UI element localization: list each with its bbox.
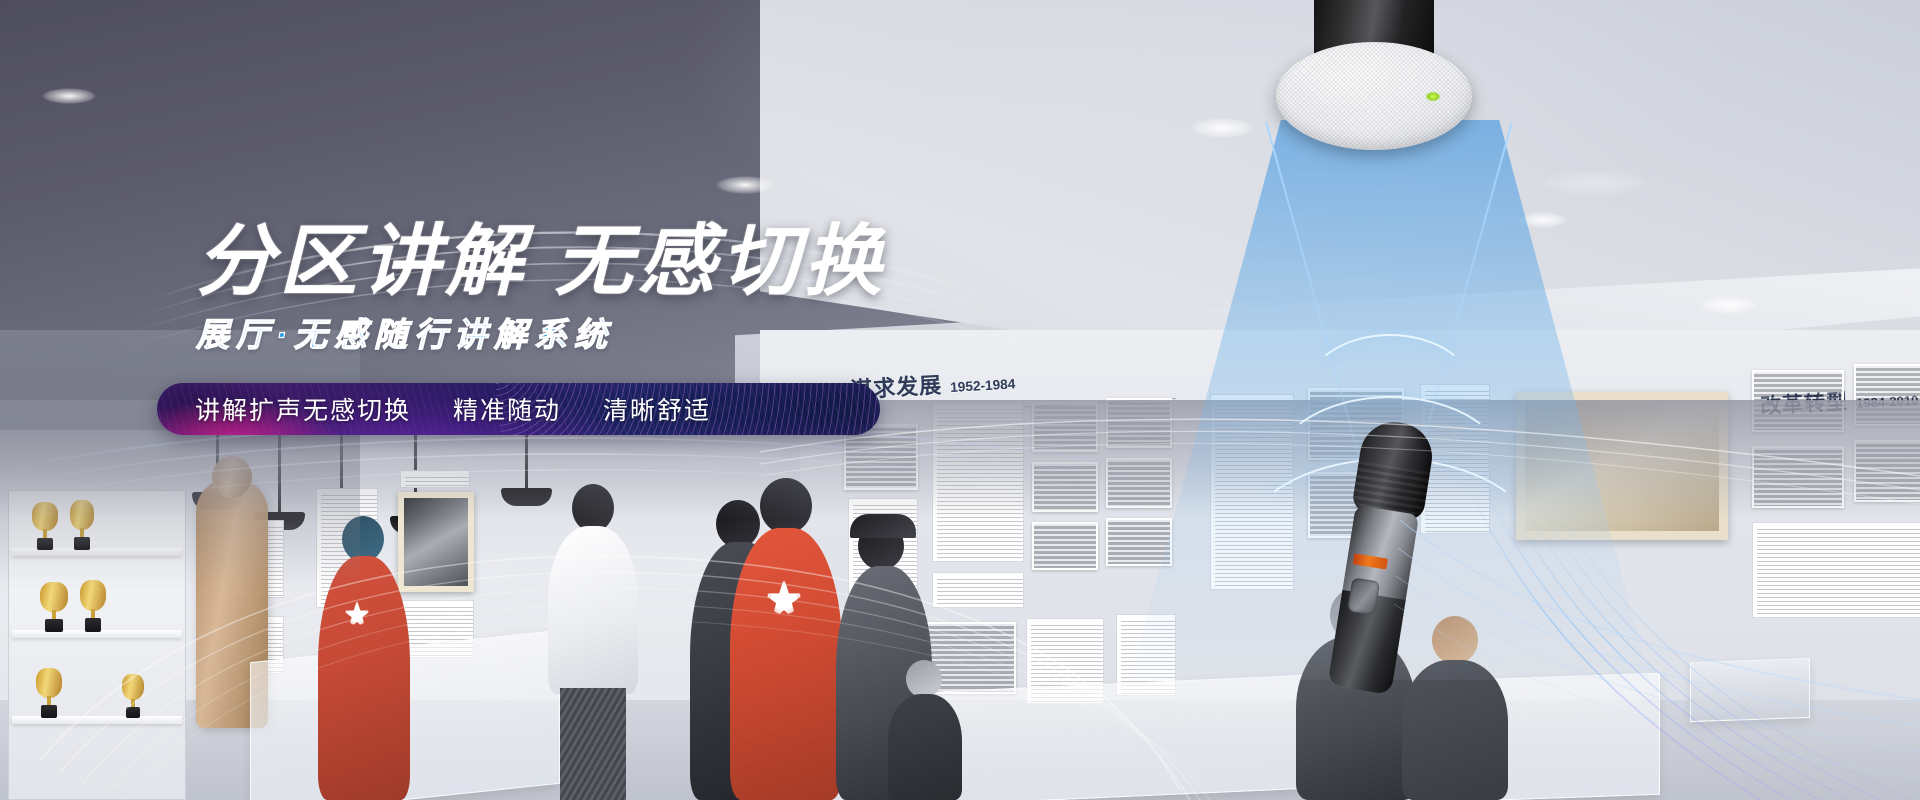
archive-photo [1854,440,1920,502]
visitor-cap [850,514,916,538]
feature-item: 讲解扩声无感切换 [195,391,411,427]
display-vitrine [1690,658,1810,722]
page-subtitle: 展厅·无感随行讲解系统 [196,308,956,356]
portrait-frame [398,492,474,592]
ceiling-light [1700,296,1758,314]
trophy [32,502,58,550]
headline-block: 分区讲解 无感切换 展厅·无感随行讲解系统 [196,222,956,356]
archive-photo [1752,446,1844,508]
pendant-lamp [278,430,281,514]
ceiling-light [42,88,96,104]
trophy [36,668,62,718]
exhibit-section-years: 1952-1984 [950,376,1016,395]
speaker-status-led [1426,92,1440,101]
visitor-body [730,528,842,800]
exhibit-panel [932,572,1024,608]
exhibit-panel [400,470,470,488]
microphone-power-button [1347,577,1380,615]
feature-item: 清晰舒适 [603,391,711,427]
archive-photo [1032,522,1098,570]
visitor-body [888,694,962,800]
ceiling-speaker [1276,0,1472,159]
promo-banner: 谋求发展1952-1984 改革转型1984-2010 [0,0,1920,800]
visitor-head [906,660,942,698]
archive-photo [1032,402,1098,452]
feature-pill: 讲解扩声无感切换 精准随动 清晰舒适 [157,383,880,435]
trophy [40,582,68,632]
ceiling-light [716,176,774,194]
trophy [70,500,94,550]
visitor-head [716,500,760,548]
pendant-lamp [525,430,528,490]
archive-photo [1854,364,1920,426]
speaker-grille [1276,42,1472,150]
page-title: 分区讲解 无感切换 [196,222,956,302]
trophy [122,674,144,718]
visitor-legs [560,688,626,800]
visitor-head [572,484,614,532]
feature-item: 精准随动 [453,391,561,427]
trophy [80,580,106,632]
archive-photo [1752,370,1844,432]
visitor-body [548,526,638,694]
exhibit-panel [1752,522,1920,618]
visitor-body [318,556,410,800]
archive-photo [1032,462,1098,512]
visitor-head [760,478,812,534]
exhibit-panel [932,402,1024,562]
